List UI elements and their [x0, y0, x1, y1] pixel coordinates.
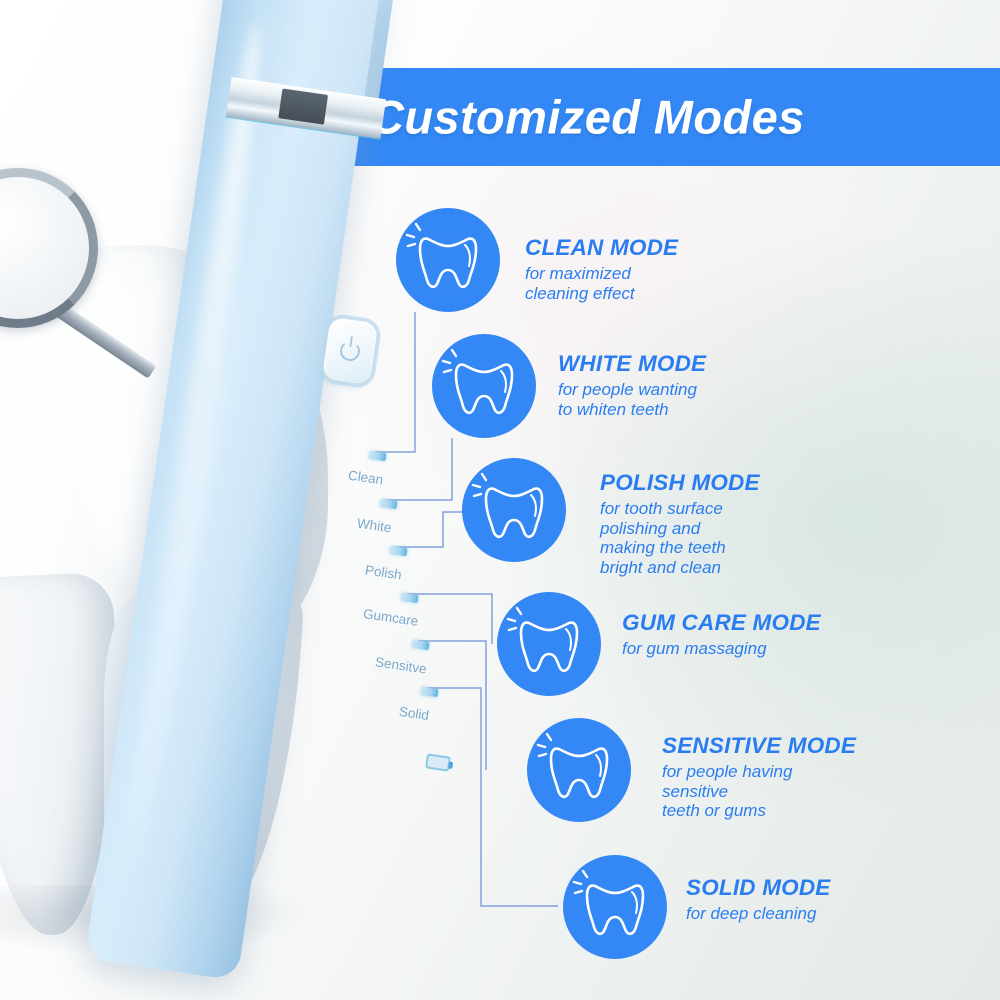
mode-title-white: WHITE MODE	[558, 351, 706, 377]
tooth-sparkle-icon	[527, 718, 631, 822]
mode-text-gumcare: GUM CARE MODEfor gum massaging	[622, 610, 821, 659]
ring-dark-inset	[278, 88, 328, 124]
mode-text-polish: POLISH MODEfor tooth surface polishing a…	[600, 470, 760, 578]
mode-text-clean: CLEAN MODEfor maximized cleaning effect	[525, 235, 678, 303]
mode-title-clean: CLEAN MODE	[525, 235, 678, 261]
product-infographic: 6 Customized Modes CleanWhitePolishGumca…	[0, 0, 1000, 1000]
mode-desc-white: for people wanting to whiten teeth	[558, 380, 706, 419]
mode-desc-polish: for tooth surface polishing and making t…	[600, 499, 760, 578]
mode-desc-gumcare: for gum massaging	[622, 639, 821, 659]
mode-desc-clean: for maximized cleaning effect	[525, 264, 678, 303]
tooth-sparkle-icon	[563, 855, 667, 959]
mode-desc-solid: for deep cleaning	[686, 904, 831, 924]
mode-title-gumcare: GUM CARE MODE	[622, 610, 821, 636]
tooth-sparkle-icon	[497, 592, 601, 696]
mode-title-solid: SOLID MODE	[686, 875, 831, 901]
tooth-sparkle-icon	[462, 458, 566, 562]
mode-title-polish: POLISH MODE	[600, 470, 760, 496]
mode-desc-sensitive: for people having sensitive teeth or gum…	[662, 762, 856, 821]
mode-text-white: WHITE MODEfor people wanting to whiten t…	[558, 351, 706, 419]
tooth-sparkle-icon	[432, 334, 536, 438]
tooth-sparkle-icon	[396, 208, 500, 312]
mode-text-sensitive: SENSITIVE MODEfor people having sensitiv…	[662, 733, 856, 821]
power-icon	[339, 340, 362, 363]
mode-text-solid: SOLID MODEfor deep cleaning	[686, 875, 831, 924]
power-button[interactable]	[322, 317, 378, 385]
mode-title-sensitive: SENSITIVE MODE	[662, 733, 856, 759]
battery-icon	[425, 753, 451, 771]
